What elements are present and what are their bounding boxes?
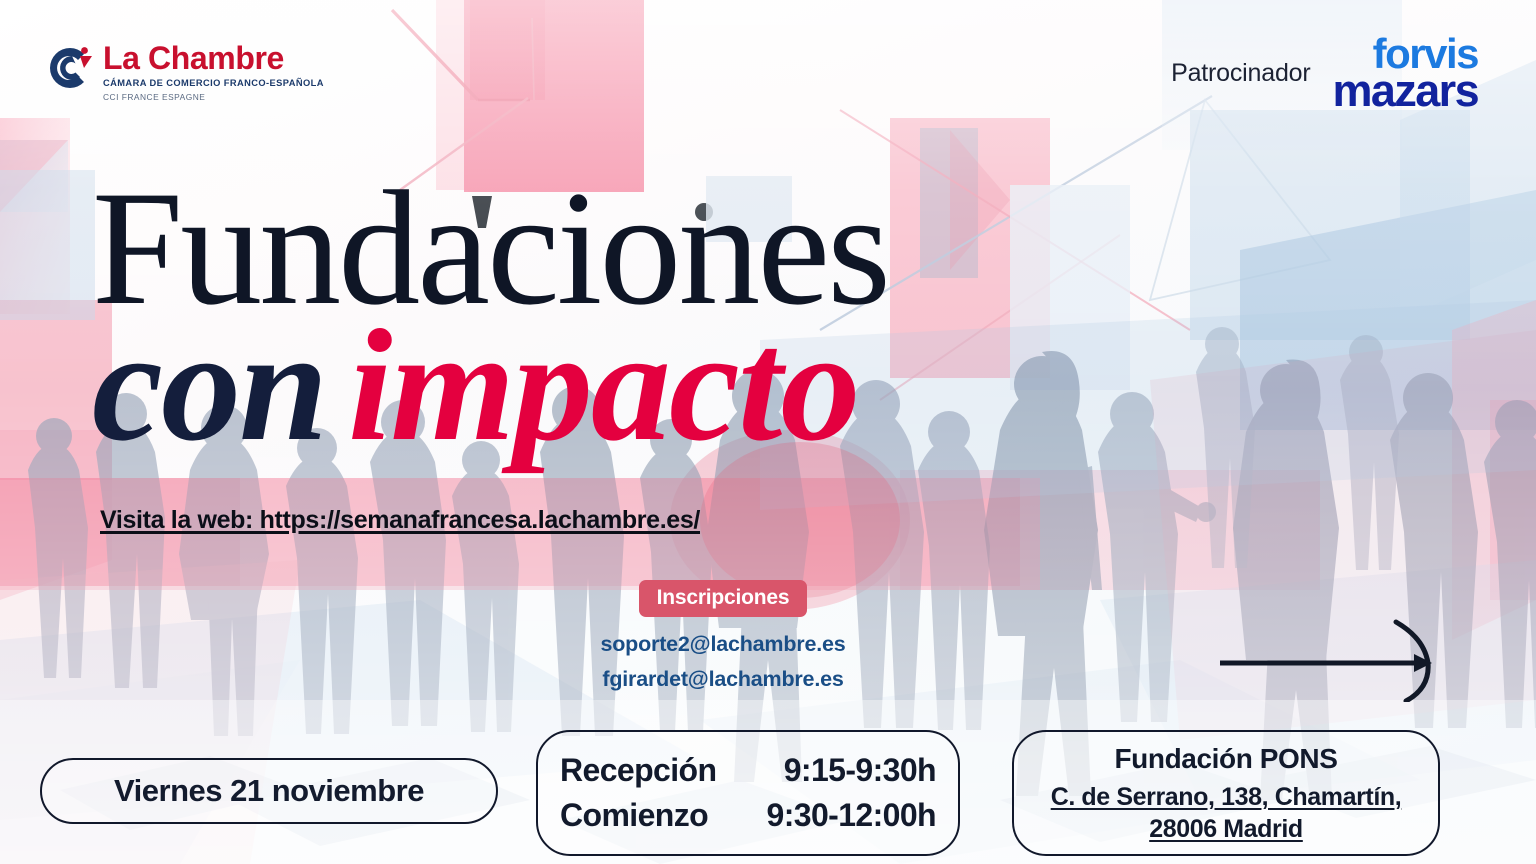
- lachambre-logo: La Chambre CÁMARA DE COMERCIO FRANCO-ESP…: [46, 42, 324, 102]
- schedule-row-reception: Recepción 9:15-9:30h: [560, 748, 936, 793]
- title-line-two: conimpacto: [92, 313, 888, 457]
- registration-email-1[interactable]: soporte2@lachambre.es: [488, 632, 958, 657]
- schedule-box: Recepción 9:15-9:30h Comienzo 9:30-12:00…: [536, 730, 960, 856]
- right-arrow-icon: [1218, 618, 1444, 702]
- sponsor-label: Patrocinador: [1171, 59, 1310, 88]
- poster-content: La Chambre CÁMARA DE COMERCIO FRANCO-ESP…: [0, 0, 1536, 864]
- schedule-row-start: Comienzo 9:30-12:00h: [560, 793, 936, 838]
- registration-email-2[interactable]: fgirardet@lachambre.es: [488, 667, 958, 692]
- venue-name: Fundación PONS: [1114, 741, 1337, 777]
- lachambre-logo-subtitle-fr: CCI FRANCE ESPAGNE: [103, 92, 324, 102]
- lachambre-logo-subtitle-es: CÁMARA DE COMERCIO FRANCO-ESPAÑOLA: [103, 78, 324, 88]
- schedule-value-reception: 9:15-9:30h: [784, 748, 936, 793]
- date-box-text: Viernes 21 noviembre: [114, 773, 424, 809]
- schedule-label-reception: Recepción: [560, 748, 716, 793]
- venue-box: Fundación PONS C. de Serrano, 138, Chama…: [1012, 730, 1440, 856]
- schedule-value-start: 9:30-12:00h: [767, 793, 937, 838]
- venue-address[interactable]: C. de Serrano, 138, Chamartín, 28006 Mad…: [1051, 781, 1402, 845]
- event-poster: La Chambre CÁMARA DE COMERCIO FRANCO-ESP…: [0, 0, 1536, 864]
- venue-address-line-1: C. de Serrano, 138, Chamartín,: [1051, 783, 1402, 811]
- sponsor-block: Patrocinador forvis mazars: [1171, 36, 1478, 111]
- poster-title: Fundaciones conimpacto: [92, 178, 888, 457]
- venue-address-line-2: 28006 Madrid: [1149, 815, 1303, 843]
- registration-badge: Inscripciones: [639, 580, 808, 617]
- cci-roundel-icon: [46, 44, 94, 92]
- schedule-label-start: Comienzo: [560, 793, 708, 838]
- registration-block: Inscripciones soporte2@lachambre.es fgir…: [488, 580, 958, 692]
- website-link[interactable]: Visita la web: https://semanafrancesa.la…: [100, 506, 700, 535]
- forvis-mazars-logo: forvis mazars: [1332, 36, 1478, 111]
- title-word-impacto: impacto: [348, 296, 858, 474]
- lachambre-logo-name: La Chambre: [103, 42, 324, 74]
- date-box: Viernes 21 noviembre: [40, 758, 498, 824]
- forvis-mazars-logo-bottom: mazars: [1332, 72, 1478, 111]
- title-word-con: con: [92, 296, 326, 474]
